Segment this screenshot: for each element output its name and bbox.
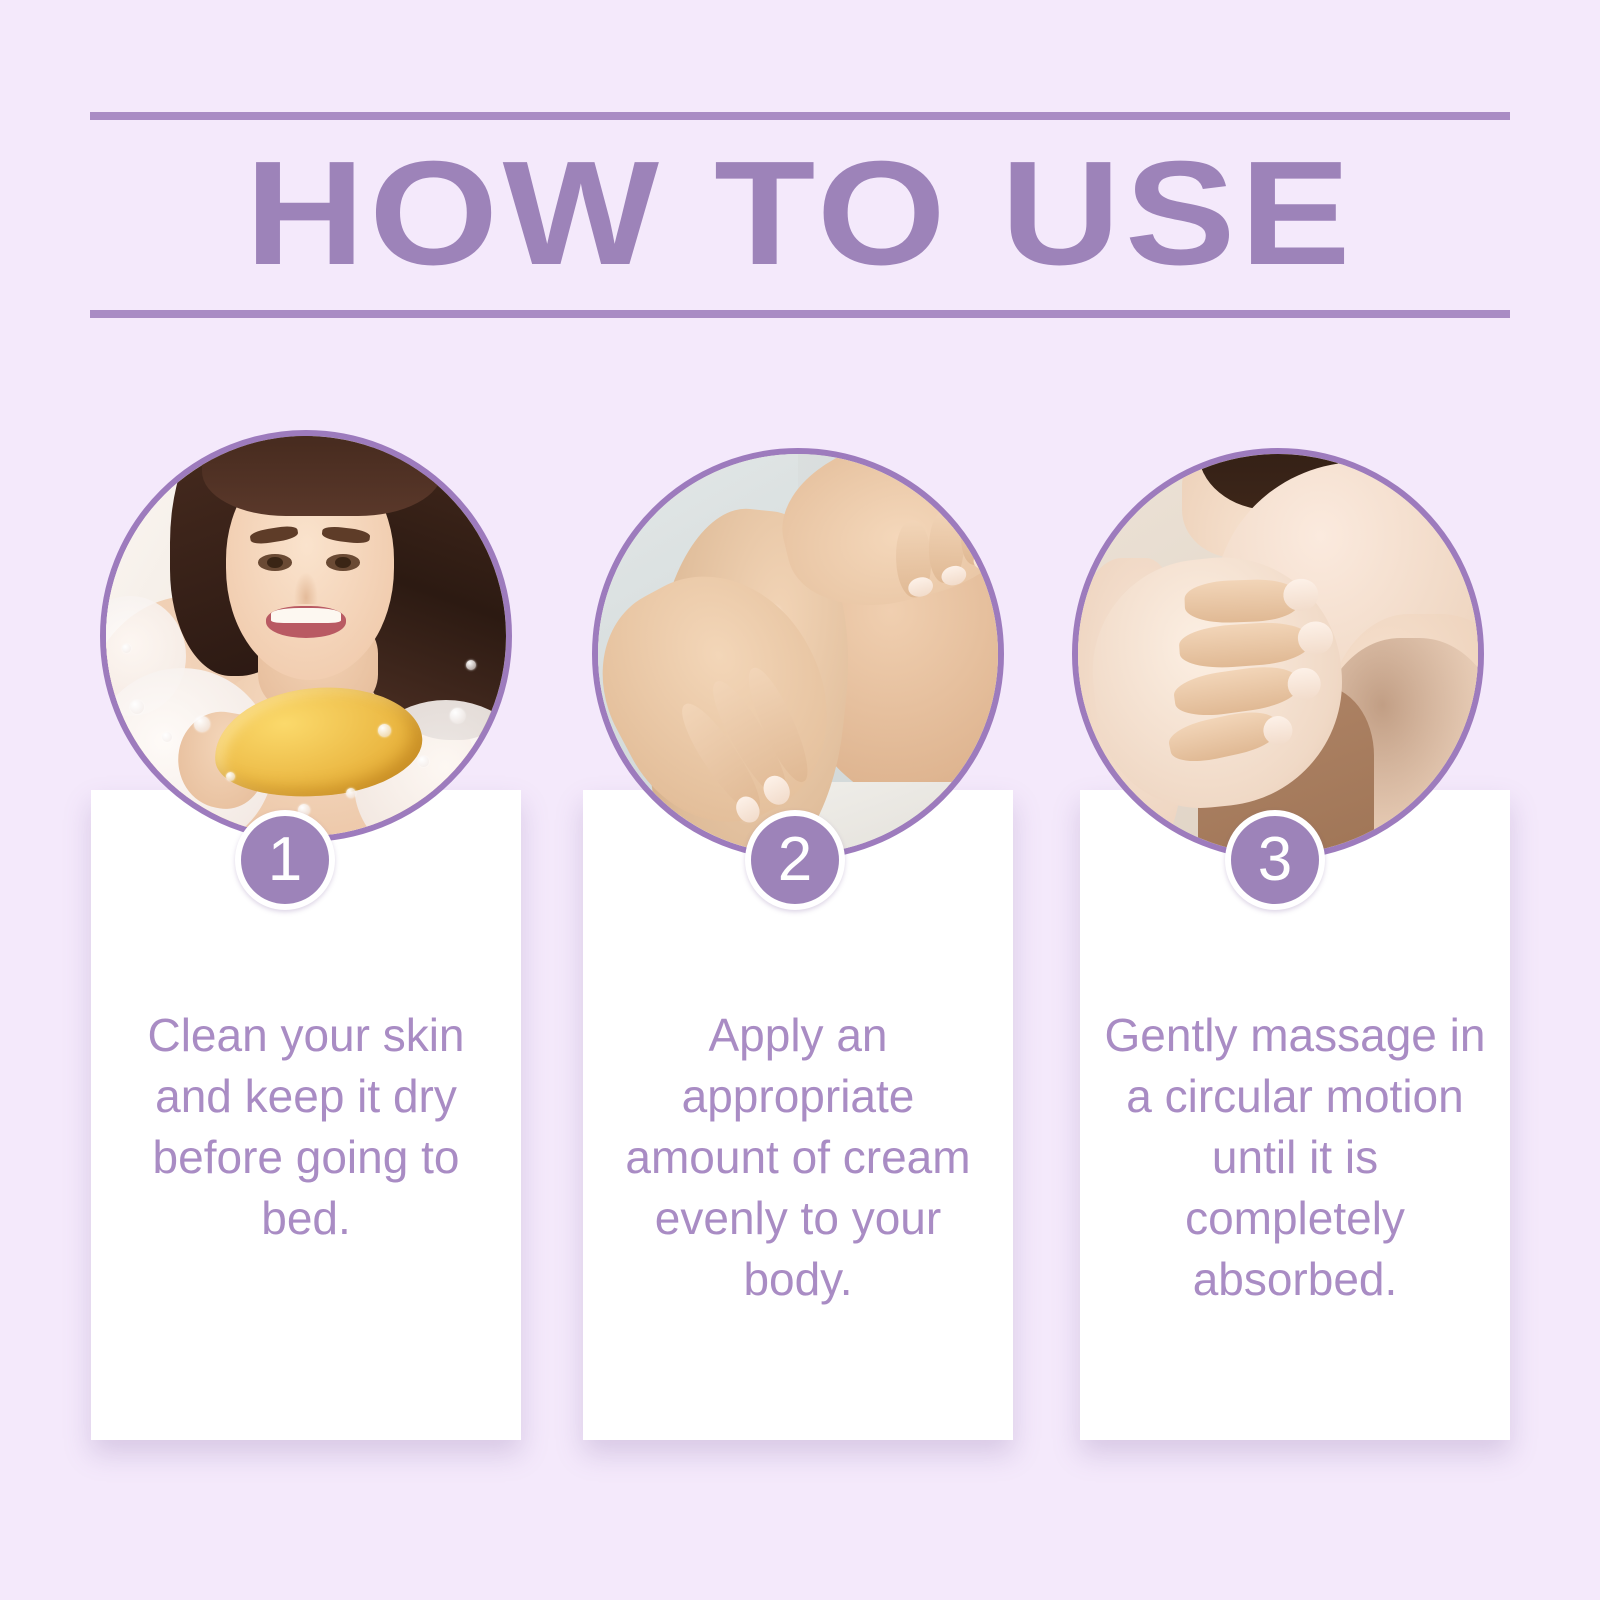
hands-applying-cream-to-leg-icon: [598, 454, 998, 854]
woman-in-bath-with-sponge-icon: [106, 436, 506, 836]
step-2-photo: [592, 448, 1004, 860]
step-2-number-badge: 2: [745, 810, 845, 910]
header: HOW TO USE: [90, 112, 1510, 318]
how-to-use-infographic: HOW TO USE Clean your skin and keep it d…: [0, 0, 1600, 1600]
step-1-photo: [100, 430, 512, 842]
step-3-number-badge: 3: [1225, 810, 1325, 910]
step-2-number: 2: [778, 829, 812, 891]
step-2-text: Apply an appropriate amount of cream eve…: [601, 1005, 995, 1310]
step-1-number-badge: 1: [235, 810, 335, 910]
step-1-number: 1: [268, 829, 302, 891]
page-title: HOW TO USE: [5, 122, 1595, 308]
step-3-photo: [1072, 448, 1484, 860]
steps-row: Clean your skin and keep it dry before g…: [0, 430, 1600, 1490]
hand-massaging-shoulder-icon: [1078, 454, 1478, 854]
step-3-number: 3: [1258, 829, 1292, 891]
title-rule-bottom: [90, 310, 1510, 318]
title-wrap: HOW TO USE: [90, 120, 1510, 310]
step-1-text: Clean your skin and keep it dry before g…: [109, 1005, 503, 1249]
title-rule-top: [90, 112, 1510, 120]
step-3-text: Gently massage in a circular motion unti…: [1098, 1005, 1492, 1310]
